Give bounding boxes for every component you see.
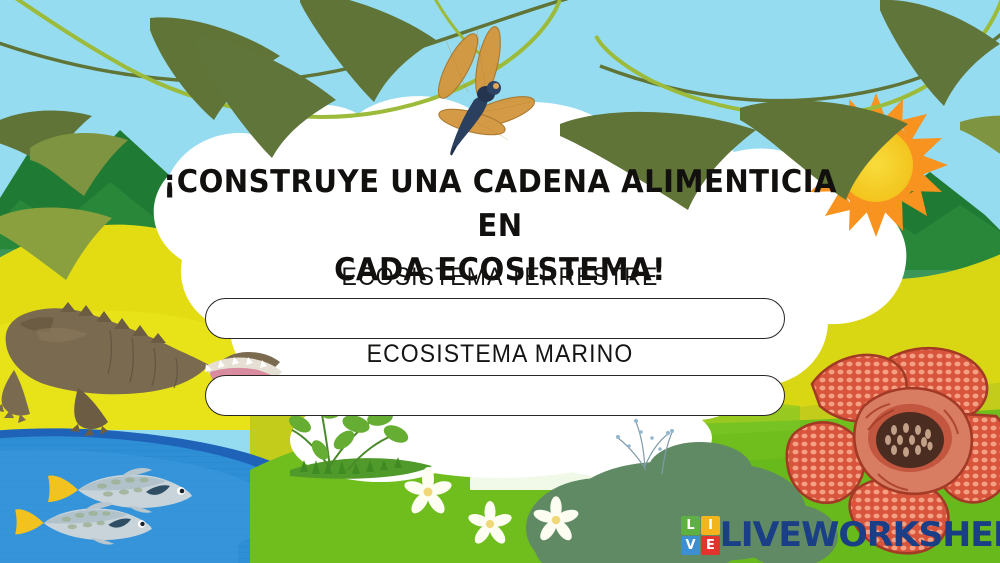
liveworksheets-logo-tiles: L I V E	[681, 516, 720, 555]
logo-tile-l: L	[681, 516, 700, 535]
liveworksheets-wordmark: LIVEWORKSHEETS	[720, 518, 1000, 552]
answer-input-ecosistema-terrestre[interactable]	[205, 298, 785, 339]
logo-tile-e: E	[701, 536, 720, 555]
label-ecosistema-marino: ECOSISTEMA MARINO	[150, 340, 849, 369]
worksheet-canvas: ¡CONSTRUYE UNA CADENA ALIMENTICIA EN CAD…	[0, 0, 1000, 563]
logo-tile-v: V	[681, 536, 700, 555]
label-ecosistema-terrestre: ECOSISTEMA TERRESTRE	[150, 263, 849, 292]
answer-input-ecosistema-marino[interactable]	[205, 375, 785, 416]
liveworksheets-logo[interactable]: L I V E LIVEWORKSHEETS	[681, 513, 1000, 557]
logo-tile-i: I	[701, 516, 720, 535]
page-title-line-1: ¡CONSTRUYE UNA CADENA ALIMENTICIA EN	[143, 160, 857, 248]
worksheet-content: ¡CONSTRUYE UNA CADENA ALIMENTICIA EN CAD…	[0, 0, 1000, 563]
